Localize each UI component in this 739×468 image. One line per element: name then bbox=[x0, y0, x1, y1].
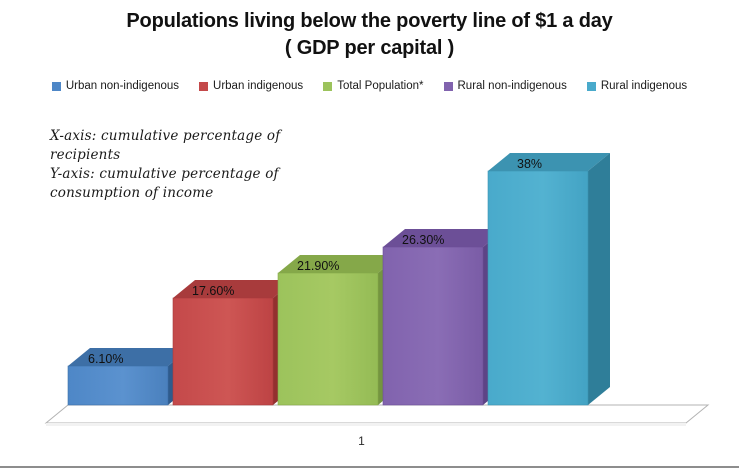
legend-swatch-icon bbox=[323, 82, 332, 91]
chart-plot-area: 6.10% 17.60% 21.90% bbox=[0, 110, 739, 440]
legend-item-rural-non-indigenous[interactable]: Rural non-indigenous bbox=[444, 80, 567, 93]
legend-swatch-icon bbox=[444, 82, 453, 91]
legend-item-rural-indigenous[interactable]: Rural indigenous bbox=[587, 80, 687, 93]
chart-floor bbox=[46, 405, 708, 426]
x-axis-tick-1: 1 bbox=[358, 434, 365, 448]
chart-legend: Urban non-indigenous Urban indigenous To… bbox=[0, 80, 739, 93]
legend-swatch-icon bbox=[587, 82, 596, 91]
chart-container: Populations living below the poverty lin… bbox=[0, 0, 739, 468]
legend-item-total-population[interactable]: Total Population* bbox=[323, 80, 423, 93]
bar-rural-non-indigenous[interactable] bbox=[383, 229, 505, 405]
bar-rural-indigenous[interactable] bbox=[488, 153, 610, 405]
bar-value-label: 6.10% bbox=[88, 352, 123, 366]
bar-urban-indigenous[interactable] bbox=[173, 280, 295, 405]
bar-value-label: 21.90% bbox=[297, 259, 339, 273]
legend-item-urban-non-indigenous[interactable]: Urban non-indigenous bbox=[52, 80, 179, 93]
bar-value-label: 17.60% bbox=[192, 284, 234, 298]
chart-title: Populations living below the poverty lin… bbox=[0, 8, 739, 62]
legend-item-urban-indigenous[interactable]: Urban indigenous bbox=[199, 80, 303, 93]
legend-item-label: Rural non-indigenous bbox=[458, 80, 567, 93]
chart-title-line2: ( GDP per capital ) bbox=[0, 35, 739, 62]
chart-title-line1: Populations living below the poverty lin… bbox=[126, 10, 612, 32]
bar-value-label: 38% bbox=[517, 157, 542, 171]
legend-item-label: Rural indigenous bbox=[601, 80, 687, 93]
legend-item-label: Total Population* bbox=[337, 80, 423, 93]
legend-item-label: Urban indigenous bbox=[213, 80, 303, 93]
legend-swatch-icon bbox=[52, 82, 61, 91]
bar-urban-non-indigenous[interactable] bbox=[68, 348, 190, 405]
legend-item-label: Urban non-indigenous bbox=[66, 80, 179, 93]
x-axis-tick-labels: 1 bbox=[0, 434, 739, 448]
bar-value-label: 26.30% bbox=[402, 233, 444, 247]
legend-swatch-icon bbox=[199, 82, 208, 91]
bar-total-population[interactable] bbox=[278, 255, 400, 405]
